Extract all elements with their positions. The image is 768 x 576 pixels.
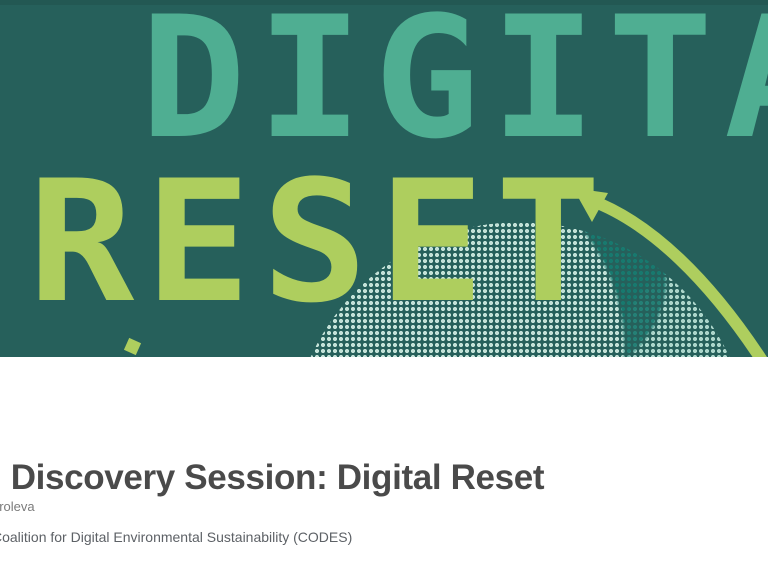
session-details: l Discovery Session: Digital Reset orole… <box>0 357 768 576</box>
session-author: oroleva <box>0 499 35 514</box>
page-title: l Discovery Session: Digital Reset <box>0 458 544 498</box>
hero-wordmark-reset: RESET <box>28 158 612 326</box>
hero-wordmark-digital: DIGITAL <box>140 0 768 162</box>
curved-arrow-icon <box>540 160 768 357</box>
hero-banner: DIGITAL RESET <box>0 0 768 357</box>
page-root: DIGITAL RESET l Discovery Session: Digit… <box>0 0 768 576</box>
session-organization: Coalition for Digital Environmental Sust… <box>0 529 352 545</box>
